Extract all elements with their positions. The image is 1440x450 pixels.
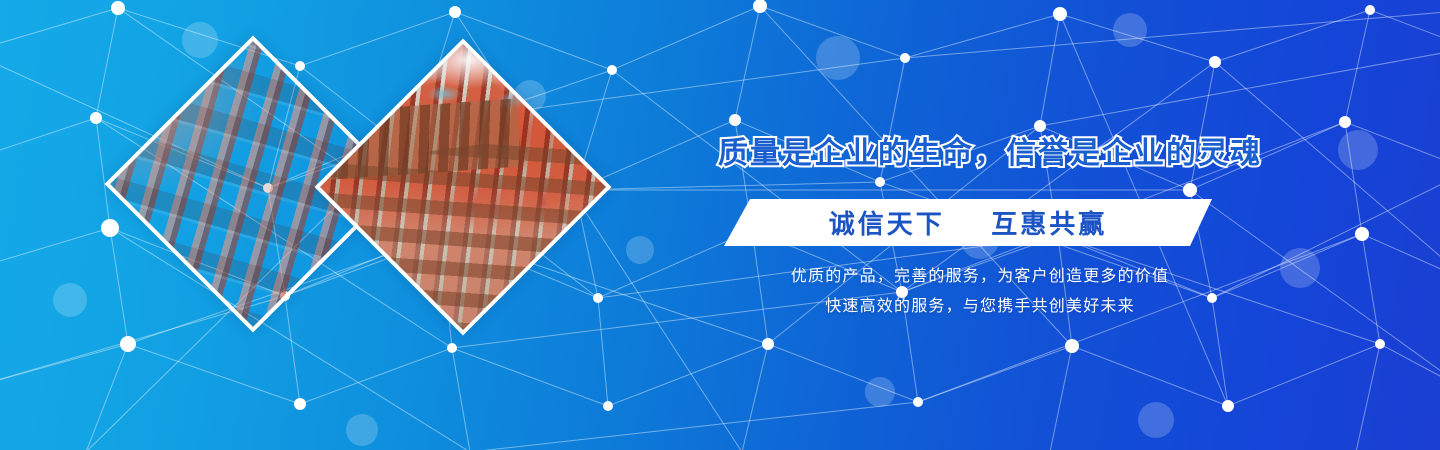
subline-2: 快速高效的服务，与您携手共创美好未来 xyxy=(700,292,1260,322)
slogan-right: 互惠共赢 xyxy=(991,209,1107,239)
subline-1: 优质的产品，完善的服务，为客户创造更多的价值 xyxy=(700,262,1260,292)
slogan-ribbon: 诚信天下 互惠共赢 xyxy=(724,199,1212,246)
slogan-ribbon-text: 诚信天下 互惠共赢 xyxy=(829,204,1108,241)
banner-sublines: 优质的产品，完善的服务，为客户创造更多的价值 快速高效的服务，与您携手共创美好未… xyxy=(700,262,1260,322)
slogan-left: 诚信天下 xyxy=(829,209,945,239)
banner-headline: 质量是企业的生命，信誉是企业的灵魂 xyxy=(718,139,1238,169)
promo-banner: 质量是企业的生命，信誉是企业的灵魂 诚信天下 互惠共赢 优质的产品，完善的服务，… xyxy=(0,0,1440,450)
